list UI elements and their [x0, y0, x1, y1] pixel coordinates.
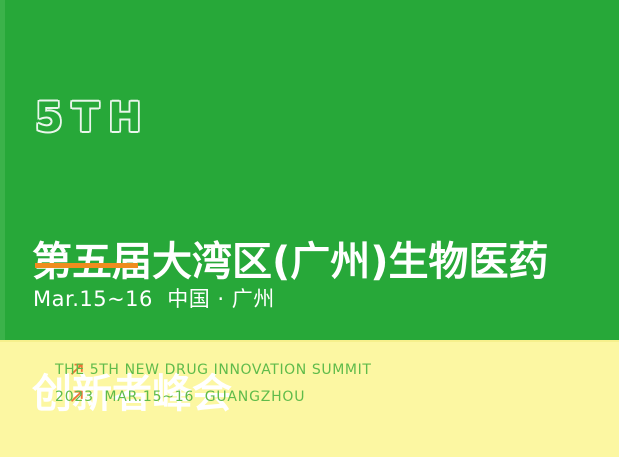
footer-text-summit-name: THE 5TH NEW DRUG INNOVATION SUMMIT: [55, 362, 372, 378]
footer-row: 2023 MAR.15~16 GUANGZHOU: [33, 383, 372, 410]
orange-divider-rule: [35, 263, 138, 268]
edition-ordinal: 5TH: [35, 98, 151, 138]
event-poster: 5TH 第五届大湾区(广州)生物医药 创新者峰会 Mar.15~16 中国 · …: [0, 0, 619, 457]
arrow-up-right-icon: [33, 388, 50, 405]
event-date-location: Mar.15~16 中国 · 广州: [33, 286, 275, 312]
footer-english-block: THE 5TH NEW DRUG INNOVATION SUMMIT 2023 …: [33, 356, 372, 410]
arrow-up-right-icon: [33, 361, 50, 378]
footer-text-date-city: 2023 MAR.15~16 GUANGZHOU: [55, 389, 305, 405]
left-edge-stripe: [0, 0, 5, 340]
footer-row: THE 5TH NEW DRUG INNOVATION SUMMIT: [33, 356, 372, 383]
poster-title-line-1: 第五届大湾区(广州)生物医药: [32, 240, 619, 284]
